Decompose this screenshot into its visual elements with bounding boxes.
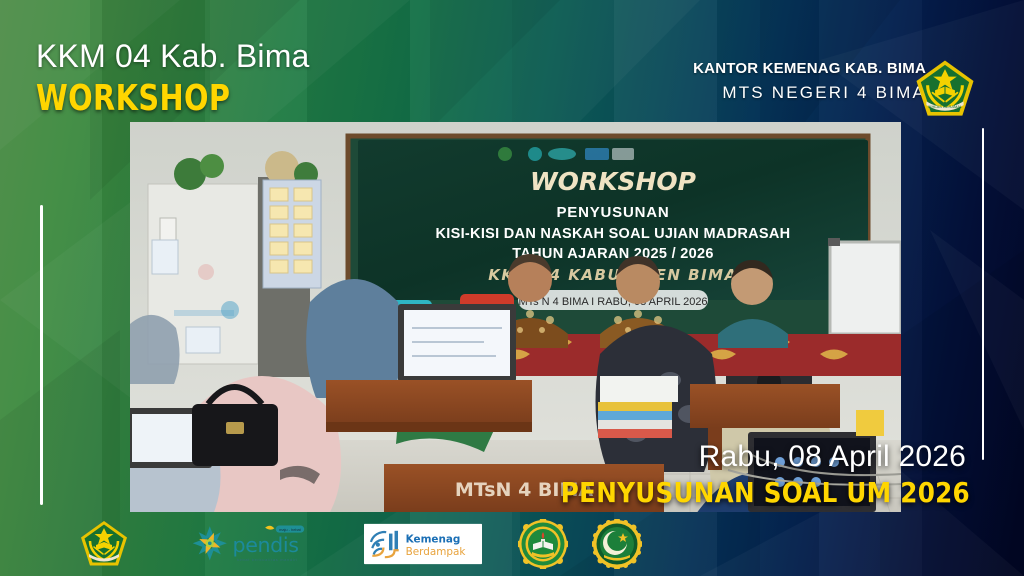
paper-stack: [600, 376, 678, 402]
wooden-desk-left: [326, 380, 532, 432]
banner-line-3: KISI-KISI DAN NASKAH SOAL UJIAN MADRASAH: [436, 226, 791, 242]
laptop-center: [392, 304, 524, 390]
org-office-name: KANTOR KEMENAG KAB. BIMA: [693, 60, 926, 79]
event-banner: WORKSHOP PENYUSUNAN KISI-KISI DAN NASKAH…: [358, 140, 868, 310]
berdampak-word1: Kemenag: [406, 534, 461, 546]
kemenag-pentagon-icon-footer: [76, 519, 132, 569]
book-stack: [598, 402, 672, 438]
banner-line-2: PENYUSUNAN: [556, 204, 669, 221]
pendis-logo: pendis maju - hebat hebat berkualitas ma…: [188, 522, 338, 566]
svg-text:IKHLAS BERAMAL: IKHLAS BERAMAL: [928, 104, 963, 109]
accent-rule-right: [982, 128, 984, 460]
accent-rule-left: [40, 205, 43, 505]
pendis-flower-icon: [188, 522, 232, 565]
event-date: Rabu, 08 April 2026: [699, 440, 966, 474]
madrasah-emblem-logo: [518, 519, 568, 569]
pendis-wordmark: pendis: [232, 533, 298, 557]
banner-line-1: WORKSHOP: [530, 167, 696, 196]
poster-canvas: KKM 04 Kab. Bima WORKSHOP KANTOR KEMENAG…: [0, 0, 1024, 576]
pendis-tagline: hebat berkualitas mandiri: [237, 557, 298, 562]
org-school-name: MTS NEGERI 4 BIMA: [693, 82, 926, 103]
crescent-emblem-logo: [592, 519, 642, 569]
berdampak-word2: Berdampak: [406, 546, 466, 558]
pendis-badge: maju - hebat: [265, 526, 304, 533]
pendis-badge-text: maju - hebat: [279, 527, 302, 532]
event-subject: PENYUSUNAN SOAL UM 2026: [561, 476, 970, 509]
yellow-box: [856, 410, 884, 436]
kemenag-berdampak-logo: Kemenag Berdampak: [364, 522, 482, 566]
workshop-title: WORKSHOP: [36, 78, 230, 119]
kkm-title: KKM 04 Kab. Bima: [36, 38, 310, 75]
organization-block: KANTOR KEMENAG KAB. BIMA MTS NEGERI 4 BI…: [693, 60, 926, 103]
banner-line-6: MTs N 4 BIMA I RABU, 08 APRIL 2026: [518, 296, 707, 308]
attendee-left-edge-2: [130, 315, 180, 384]
kemenag-pentagon-icon: IKHLAS BERAMAL: [914, 58, 976, 120]
partner-logo-strip: pendis maju - hebat hebat berkualitas ma…: [0, 512, 1024, 576]
